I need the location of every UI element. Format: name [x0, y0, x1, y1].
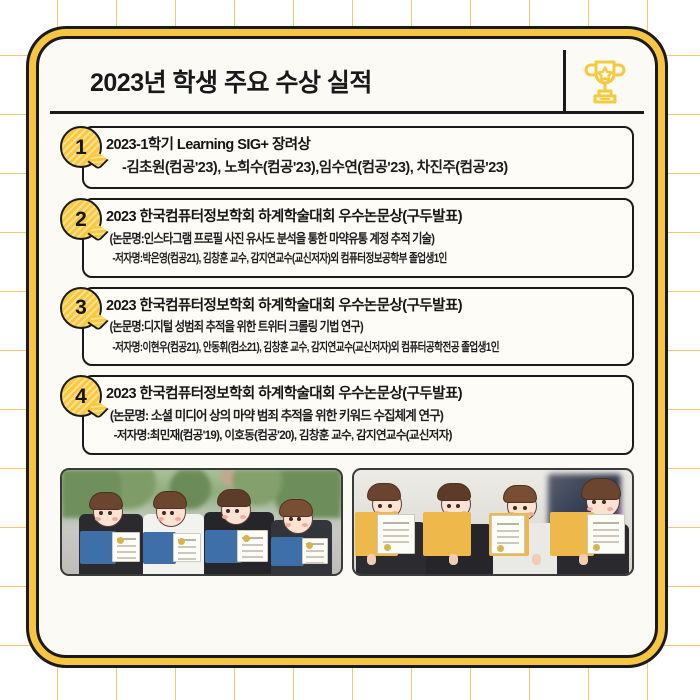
person-hair: [437, 483, 471, 501]
award-item-3: 3 2023 한국컴퓨터정보학회 하계학술대회 우수논문상(구두발표) (논문명…: [60, 287, 634, 366]
person-blush: [222, 515, 228, 519]
certificate-folder: [271, 537, 304, 566]
page-title: 2023년 학생 주요 수상 실적: [90, 63, 372, 99]
person-eye: [108, 511, 112, 515]
award-title-3: 2023 한국컴퓨터정보학회 하계학술대회 우수논문상(구두발표): [106, 296, 620, 318]
certificate-folder: [423, 512, 471, 556]
award-number-badge-2: 2: [60, 198, 102, 240]
trophy-icon: [566, 50, 644, 111]
person-hand: [532, 554, 541, 565]
photo-person: [426, 482, 493, 574]
photo-person: [271, 497, 332, 574]
photo-person: [356, 482, 426, 574]
award-item-4: 4 2023 한국컴퓨터정보학회 하계학술대회 우수논문상(구두발표) (논문명…: [60, 375, 634, 454]
person-eye: [447, 504, 451, 508]
award-card: 2023년 학생 주요 수상 실적 1 2023-1학: [36, 36, 658, 658]
person-blush: [587, 507, 593, 511]
person-hair: [367, 483, 401, 501]
person-hair: [217, 489, 251, 507]
person-hand: [449, 554, 458, 565]
photo-person: [204, 490, 274, 573]
award-box-4: 2023 한국컴퓨터정보학회 하계학술대회 우수논문상(구두발표) (논문명: …: [82, 375, 634, 454]
award-title-1: 2023-1학기 Learning SIG+ 장려상: [106, 135, 620, 157]
certificate-paper: [237, 530, 268, 562]
person-hair: [581, 478, 621, 500]
award-paper-2: (논문명:인스타그램 프로필 사진 유사도 분석을 통한 마약유통 계정 추적 …: [106, 229, 548, 249]
person-blush: [175, 517, 181, 521]
photo-person: [79, 493, 143, 574]
page-title-wrap: 2023년 학생 주요 수상 실적: [50, 50, 559, 111]
award-authors-3: -저자명:이현우(컴공21), 안동휘(컴소21), 김창훈 교수, 감지연교수…: [106, 338, 517, 357]
award-box-1: 2023-1학기 Learning SIG+ 장려상 -김초원(컴공'23), …: [82, 126, 634, 189]
person-hand: [579, 554, 588, 565]
award-number-badge-4: 4: [60, 375, 102, 417]
certificate-paper: [112, 532, 140, 562]
person-hair: [89, 492, 123, 510]
certificate-folder: [143, 532, 176, 564]
person-eye: [388, 504, 392, 508]
photo-person: [143, 490, 204, 573]
award-item-2: 2 2023 한국컴퓨터정보학회 하계학술대회 우수논문상(구두발표) (논문명…: [60, 198, 634, 277]
person-eye: [523, 506, 527, 510]
award-item-1: 1 2023-1학기 Learning SIG+ 장려상 -김초원(컴공'23)…: [60, 126, 634, 189]
person-blush: [285, 523, 291, 527]
certificate-paper: [377, 514, 415, 554]
award-number-badge-3: 3: [60, 287, 102, 329]
person-blush: [302, 523, 308, 527]
award-photo-indoor-yellow-certificates: [352, 468, 635, 576]
person-hair: [153, 491, 187, 509]
certificate-folder: [205, 530, 241, 563]
award-photo-outdoor-blue-certificates: [60, 468, 343, 576]
award-box-3: 2023 한국컴퓨터정보학회 하계학술대회 우수논문상(구두발표) (논문명:디…: [82, 287, 634, 366]
person-hand: [367, 554, 376, 565]
photo-row: [50, 464, 644, 576]
person-eye: [378, 504, 382, 508]
certificate-paper: [302, 538, 329, 565]
certificate-paper: [173, 533, 201, 562]
certificate-folder: [80, 531, 116, 563]
award-number-badge-1: 1: [60, 126, 102, 168]
award-title-4: 2023 한국컴퓨터정보학회 하계학술대회 우수논문상(구두발표): [106, 384, 620, 406]
person-blush: [240, 515, 246, 519]
person-blush: [112, 517, 118, 521]
award-title-2: 2023 한국컴퓨터정보학회 하계학술대회 우수논문상(구두발표): [106, 207, 620, 229]
person-eye: [99, 511, 103, 515]
person-hair: [503, 485, 537, 503]
award-list: 1 2023-1학기 Learning SIG+ 장려상 -김초원(컴공'23)…: [50, 114, 644, 455]
photo-person: [557, 482, 629, 574]
award-paper-3: (논문명:디지털 성범죄 추적을 위한 트위터 크롤링 기법 연구): [106, 317, 548, 337]
award-authors-4: -저자명:최민재(컴공'19), 이호동(컴공'20), 김창훈 교수, 감지연…: [106, 426, 599, 445]
person-hair: [279, 499, 313, 517]
person-blush: [95, 517, 101, 521]
award-authors-1: -김초원(컴공'23), 노희수(컴공'23),임수연(컴공'23), 차진주(…: [106, 157, 620, 179]
award-paper-4: (논문명: 소셜 미디어 상의 마약 범죄 추적을 위한 키워드 수집체계 연구…: [106, 406, 599, 426]
card-header: 2023년 학생 주요 수상 실적: [50, 50, 644, 114]
award-box-2: 2023 한국컴퓨터정보학회 하계학술대회 우수논문상(구두발표) (논문명:인…: [82, 198, 634, 277]
award-authors-2: -저자명:박은영(컴공21), 김창훈 교수, 감지연교수(교신저자)외 컴퓨터…: [106, 249, 517, 268]
